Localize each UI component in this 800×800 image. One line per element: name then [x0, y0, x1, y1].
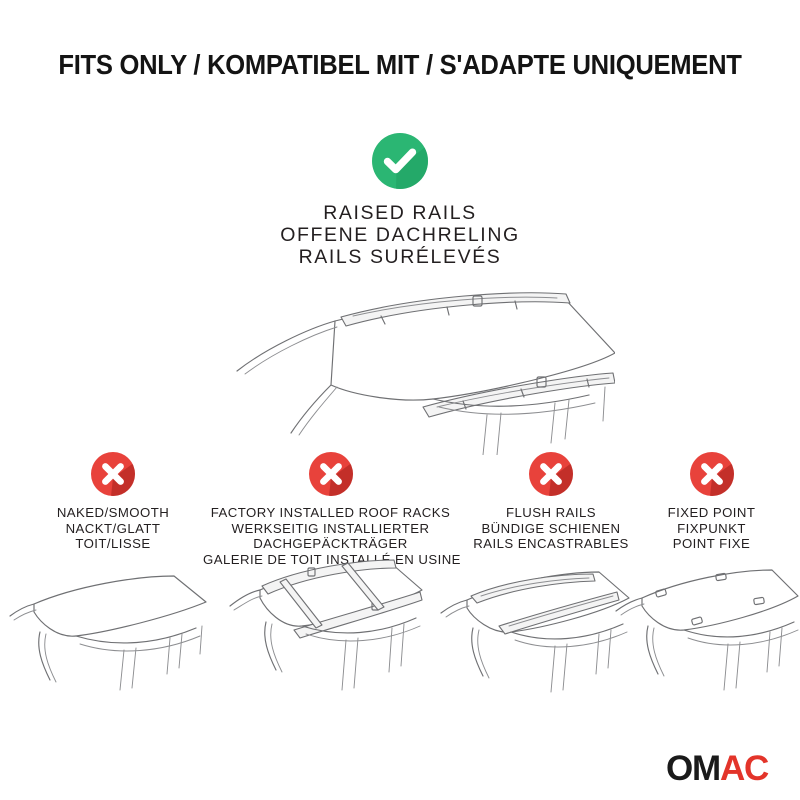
logo-text-black: OM: [666, 749, 720, 788]
label-line-de-1: WERKSEITIG INSTALLIERTER: [203, 521, 458, 537]
logo-text-red: AC: [720, 749, 768, 788]
compatible-label-de: OFFENE DACHRELING: [0, 224, 800, 246]
label-line-en: NAKED/SMOOTH: [13, 505, 213, 521]
naked-smooth-labels: NAKED/SMOOTH NACKT/GLATT TOIT/LISSE: [13, 505, 213, 552]
compatible-labels: RAISED RAILS OFFENE DACHRELING RAILS SUR…: [0, 202, 800, 268]
label-line-fr: RAILS ENCASTRABLES: [453, 536, 649, 552]
fixed-point-labels: FIXED POINT FIXPUNKT POINT FIXE: [630, 505, 793, 552]
label-line-en: FACTORY INSTALLED ROOF RACKS: [203, 505, 458, 521]
label-line-de: NACKT/GLATT: [13, 521, 213, 537]
compatible-section: RAISED RAILS OFFENE DACHRELING RAILS SUR…: [0, 133, 800, 268]
header: FITS ONLY / KOMPATIBEL MIT / S'ADAPTE UN…: [0, 49, 800, 81]
incompatible-item-naked-smooth: NAKED/SMOOTH NACKT/GLATT TOIT/LISSE: [13, 452, 213, 552]
label-line-fr: TOIT/LISSE: [13, 536, 213, 552]
label-line-de: BÜNDIGE SCHIENEN: [453, 521, 649, 537]
cross-circle-icon: [309, 452, 353, 496]
fitment-compatibility-infographic: FITS ONLY / KOMPATIBEL MIT / S'ADAPTE UN…: [0, 0, 800, 800]
compatible-label-fr: RAILS SURÉLEVÉS: [0, 246, 800, 268]
compatible-label-en: RAISED RAILS: [0, 202, 800, 224]
label-line-fr: POINT FIXE: [630, 536, 793, 552]
cross-circle-icon: [690, 452, 734, 496]
check-circle-icon: [372, 133, 428, 189]
car-roof-with-factory-crossbars-illustration: [222, 548, 437, 703]
label-line-en: FLUSH RAILS: [453, 505, 649, 521]
car-roof-naked-smooth-illustration: [6, 556, 211, 701]
cross-circle-icon: [529, 452, 573, 496]
label-line-de: FIXPUNKT: [630, 521, 793, 537]
omac-logo: OMAC: [666, 751, 768, 786]
incompatible-item-fixed-point: FIXED POINT FIXPUNKT POINT FIXE: [630, 452, 793, 552]
page-title: FITS ONLY / KOMPATIBEL MIT / S'ADAPTE UN…: [28, 49, 772, 81]
car-roof-with-raised-rails-illustration: [185, 275, 615, 455]
cross-circle-icon: [91, 452, 135, 496]
incompatible-item-flush-rails: FLUSH RAILS BÜNDIGE SCHIENEN RAILS ENCAS…: [453, 452, 649, 552]
car-roof-fixed-point-illustration: [612, 552, 800, 700]
label-line-en: FIXED POINT: [630, 505, 793, 521]
flush-rails-labels: FLUSH RAILS BÜNDIGE SCHIENEN RAILS ENCAS…: [453, 505, 649, 552]
car-roof-with-flush-rails-illustration: [437, 552, 635, 700]
